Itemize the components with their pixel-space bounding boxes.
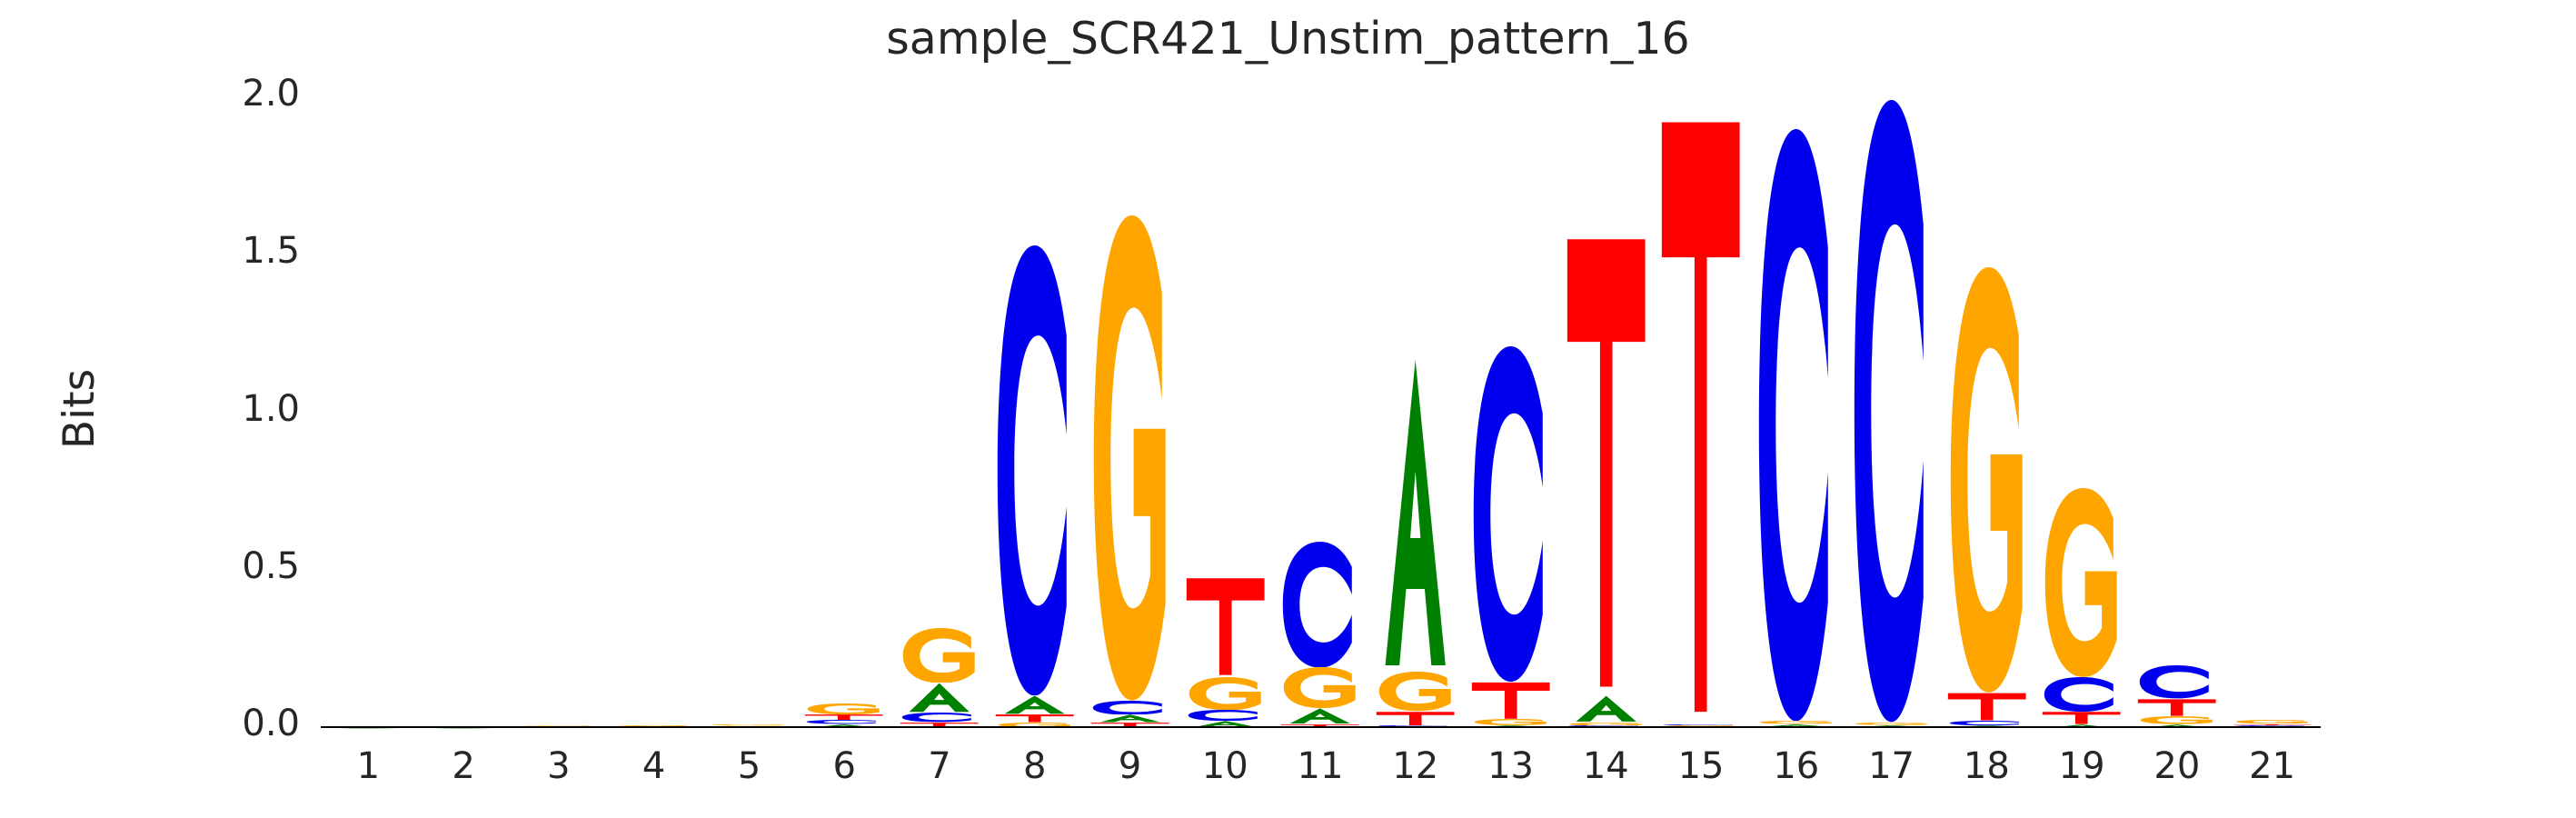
logo-stack-position-12 — [1371, 354, 1459, 727]
x-tick-label: 6 — [797, 745, 891, 787]
logo-letter-C — [1847, 100, 1935, 722]
logo-letter-G — [1371, 672, 1459, 711]
logo-stack-position-11 — [1276, 542, 1364, 727]
y-axis-label: Bits — [55, 273, 104, 545]
logo-stack-position-6 — [800, 703, 888, 727]
x-tick-label: 11 — [1273, 745, 1368, 787]
x-tick-label: 7 — [892, 745, 987, 787]
logo-letter-C — [1752, 129, 1840, 721]
logo-stack-position-7 — [895, 628, 983, 727]
logo-letter-G — [1276, 667, 1364, 708]
logo-letter-A — [1276, 708, 1364, 723]
logo-letter-A — [990, 695, 1079, 714]
logo-letter-T — [2133, 699, 2221, 716]
logo-stack-position-17 — [1847, 100, 1935, 727]
x-tick-label: 15 — [1654, 745, 1748, 787]
x-tick-label: 18 — [1939, 745, 2034, 787]
plot-area — [321, 55, 2320, 727]
x-tick-label: 4 — [607, 745, 701, 787]
x-tick-label: 8 — [988, 745, 1082, 787]
logo-letter-C — [2133, 665, 2221, 698]
logo-letter-G — [1086, 215, 1174, 701]
logo-stack-position-18 — [1943, 267, 2031, 727]
logo-letter-A — [1562, 695, 1650, 722]
logo-letter-T — [1371, 712, 1459, 726]
x-tick-label: 19 — [2034, 745, 2129, 787]
x-tick-label: 2 — [416, 745, 511, 787]
x-tick-label: 9 — [1082, 745, 1177, 787]
logo-letter-T — [1562, 230, 1650, 696]
logo-letter-C — [2037, 677, 2125, 712]
logo-letter-T — [1943, 693, 2031, 721]
logo-letter-A — [895, 683, 983, 713]
logo-stack-position-9 — [1086, 215, 1174, 727]
y-axis-tick-labels: 0.00.51.01.52.0 — [145, 0, 300, 818]
x-tick-label: 12 — [1368, 745, 1463, 787]
x-tick-label: 1 — [321, 745, 415, 787]
logo-stack-position-20 — [2133, 665, 2221, 727]
logo-stack-position-14 — [1562, 230, 1650, 727]
logo-letter-C — [1181, 710, 1269, 721]
y-tick-label: 1.5 — [191, 230, 300, 272]
x-tick-label: 10 — [1178, 745, 1272, 787]
logo-stack-position-15 — [1656, 110, 1745, 727]
x-tick-label: 21 — [2225, 745, 2320, 787]
logo-letter-A — [1086, 714, 1174, 723]
logo-stack-position-19 — [2037, 488, 2125, 727]
logo-letter-G — [800, 703, 888, 714]
x-axis-tick-labels: 123456789101112131415161718192021 — [321, 745, 2320, 800]
logo-stack-position-13 — [1467, 346, 1555, 727]
logo-letter-C — [1086, 701, 1174, 715]
x-tick-label: 14 — [1558, 745, 1653, 787]
logo-letter-C — [990, 245, 1079, 695]
x-tick-label: 13 — [1464, 745, 1558, 787]
logo-letter-A — [1371, 354, 1459, 672]
logo-letter-T — [1467, 682, 1555, 720]
logo-stack-position-16 — [1752, 129, 1840, 727]
logo-letter-T — [1181, 576, 1269, 677]
logo-letter-G — [1181, 677, 1269, 710]
logo-stack-position-10 — [1181, 576, 1269, 727]
x-tick-label: 5 — [701, 745, 796, 787]
sequence-logo-figure: sample_SCR421_Unstim_pattern_16 Bits 0.0… — [0, 0, 2576, 818]
logo-letter-G — [895, 628, 983, 683]
x-tick-label: 3 — [512, 745, 606, 787]
logo-letter-G — [1943, 267, 2031, 693]
x-tick-label: 16 — [1749, 745, 1844, 787]
x-tick-label: 17 — [1845, 745, 1939, 787]
x-axis-line — [321, 726, 2321, 728]
logo-letter-T — [990, 714, 1079, 723]
y-tick-label: 0.5 — [191, 545, 300, 587]
logo-stack-position-8 — [990, 245, 1079, 727]
logo-letter-T — [2037, 712, 2125, 724]
logo-letter-C — [1467, 346, 1555, 682]
y-tick-label: 1.0 — [191, 388, 300, 430]
logo-letter-G — [1467, 719, 1555, 725]
logo-letter-C — [1276, 542, 1364, 668]
logo-letter-C — [895, 713, 983, 722]
x-tick-label: 20 — [2130, 745, 2224, 787]
logo-letter-G — [2037, 488, 2125, 677]
logo-letter-G — [2133, 716, 2221, 724]
y-tick-label: 0.0 — [191, 703, 300, 744]
logo-letter-T — [1656, 110, 1745, 724]
y-tick-label: 2.0 — [191, 73, 300, 115]
